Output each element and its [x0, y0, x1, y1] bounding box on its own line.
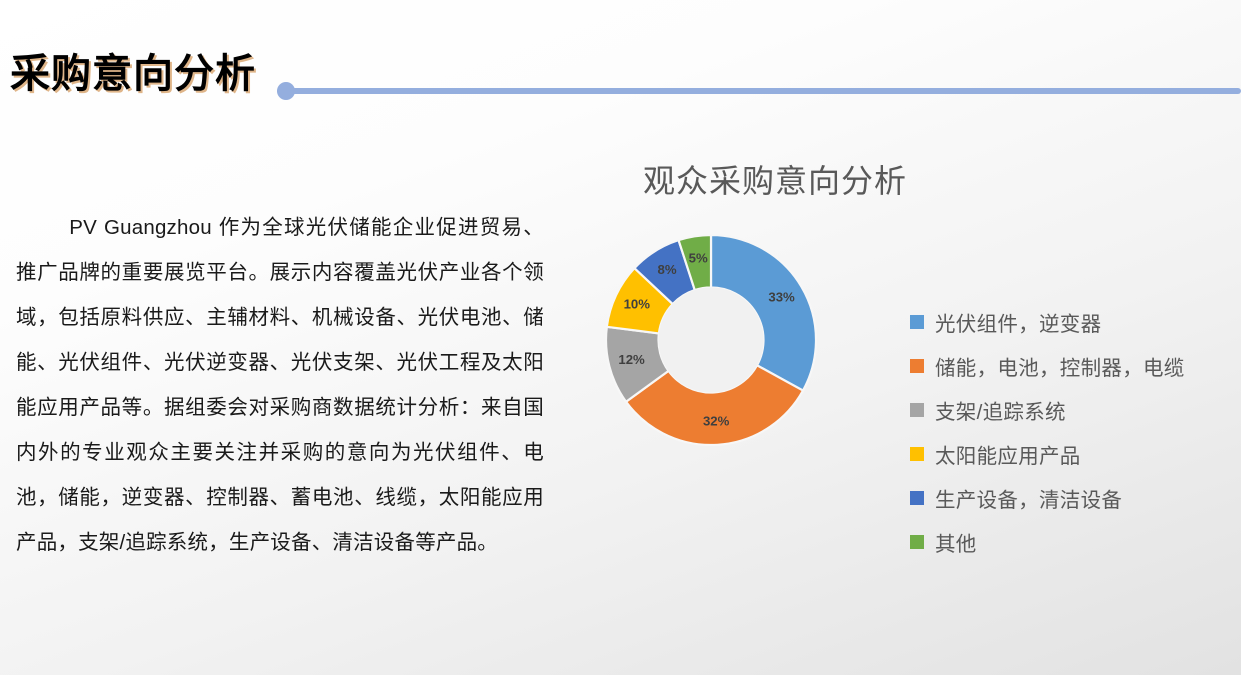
donut-hole	[659, 288, 764, 393]
legend-item[interactable]: 其他	[910, 520, 1230, 564]
legend-item[interactable]: 生产设备，清洁设备	[910, 476, 1230, 520]
legend-swatch-icon	[910, 491, 924, 505]
legend-item-label: 生产设备，清洁设备	[935, 483, 1122, 513]
legend-item-label: 其他	[935, 527, 977, 557]
legend-item-label: 光伏组件，逆变器	[935, 307, 1101, 337]
header-divider	[277, 88, 1241, 94]
legend-item[interactable]: 光伏组件，逆变器	[910, 300, 1230, 344]
donut-slice-label: 8%	[658, 262, 677, 277]
legend-item-label: 储能，电池，控制器，电缆	[935, 351, 1185, 381]
donut-chart-svg: 33%32%12%10%8%5%	[601, 230, 821, 450]
legend-item-label: 支架/追踪系统	[935, 395, 1066, 425]
legend-swatch-icon	[910, 403, 924, 417]
legend-item[interactable]: 太阳能应用产品	[910, 432, 1230, 476]
slide-header: 采购意向分析	[0, 26, 1241, 98]
chart-container: 观众采购意向分析 33%32%12%10%8%5% 光伏组件，逆变器储能，电池，…	[545, 140, 1235, 640]
legend-swatch-icon	[910, 359, 924, 373]
donut-slice-label: 32%	[703, 413, 730, 428]
donut-chart: 33%32%12%10%8%5%	[601, 230, 821, 450]
donut-slice-label: 5%	[689, 250, 708, 265]
chart-legend: 光伏组件，逆变器储能，电池，控制器，电缆支架/追踪系统太阳能应用产品生产设备，清…	[910, 300, 1230, 564]
donut-slice-label: 12%	[618, 352, 645, 367]
description-paragraph: PV Guangzhou 作为全球光伏储能企业促进贸易、推广品牌的重要展览平台。…	[16, 205, 544, 565]
donut-slice-label: 10%	[624, 297, 651, 312]
donut-slice-label: 33%	[768, 290, 795, 305]
legend-item[interactable]: 支架/追踪系统	[910, 388, 1230, 432]
legend-item[interactable]: 储能，电池，控制器，电缆	[910, 344, 1230, 388]
page-title: 采购意向分析	[10, 54, 256, 94]
chart-title: 观众采购意向分析	[545, 156, 1005, 202]
slide-root: 采购意向分析 PV Guangzhou 作为全球光伏储能企业促进贸易、推广品牌的…	[0, 0, 1241, 675]
legend-swatch-icon	[910, 447, 924, 461]
legend-swatch-icon	[910, 315, 924, 329]
legend-item-label: 太阳能应用产品	[935, 439, 1081, 469]
legend-swatch-icon	[910, 535, 924, 549]
